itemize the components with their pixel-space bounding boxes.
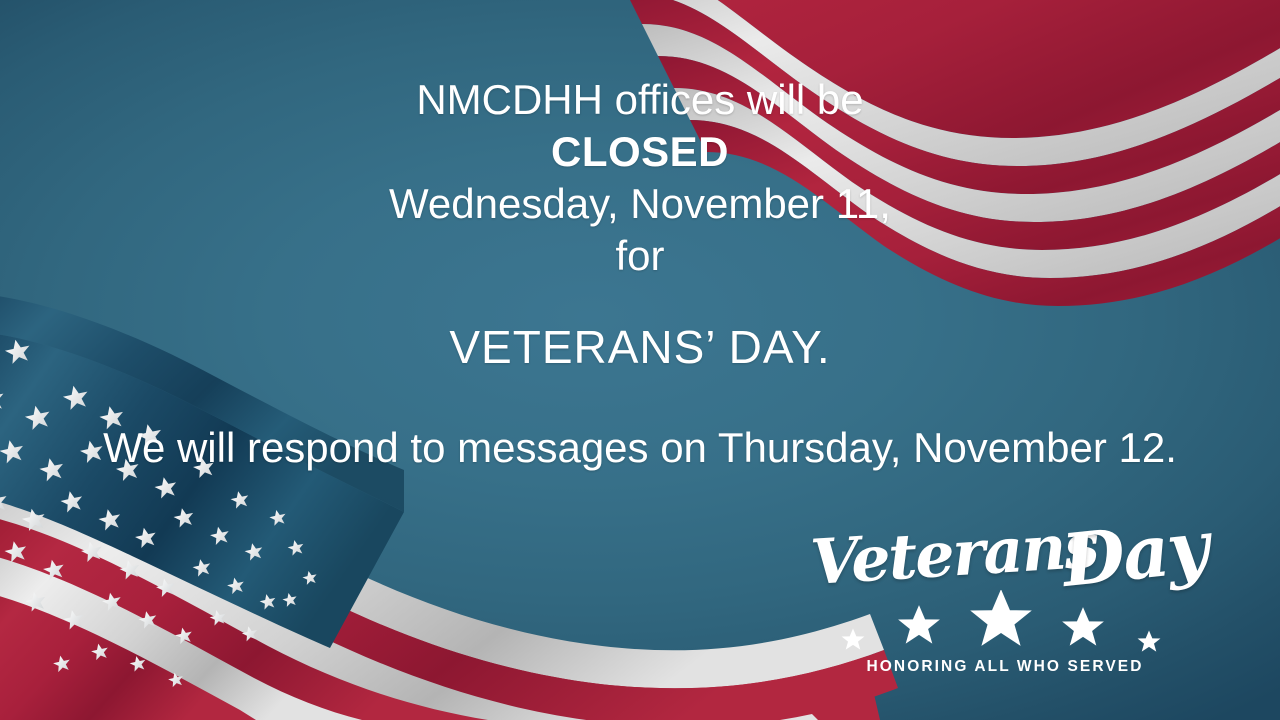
logo-script-day: Day <box>1058 503 1211 603</box>
logo-star-small-left <box>842 629 865 650</box>
veterans-day-logo: Veterans Day HONORING <box>805 512 1205 692</box>
announcement-line-for: for <box>0 230 1280 282</box>
flag-canton <box>0 330 404 648</box>
veterans-day-closure-slide: NMCDHH offices will be CLOSED Wednesday,… <box>0 0 1280 720</box>
logo-star-medium-left <box>898 605 940 643</box>
logo-star-large-center <box>970 590 1032 646</box>
announcement-line-closed: CLOSED <box>0 126 1280 178</box>
announcement-line-date: Wednesday, November 11, <box>0 178 1280 230</box>
announcement-headline-veterans-day: VETERANS’ DAY. <box>0 318 1280 376</box>
logo-stars-group <box>835 590 1175 660</box>
announcement-line-offices-will-be: NMCDHH offices will be <box>0 74 1280 126</box>
logo-script-veterans: Veterans <box>809 509 1100 599</box>
logo-star-medium-right <box>1062 607 1104 645</box>
announcement-line-respond: We will respond to messages on Thursday,… <box>0 420 1280 476</box>
logo-tagline: HONORING ALL WHO SERVED <box>805 658 1205 676</box>
logo-star-small-right <box>1138 631 1161 652</box>
flag-stars-group <box>0 337 318 688</box>
